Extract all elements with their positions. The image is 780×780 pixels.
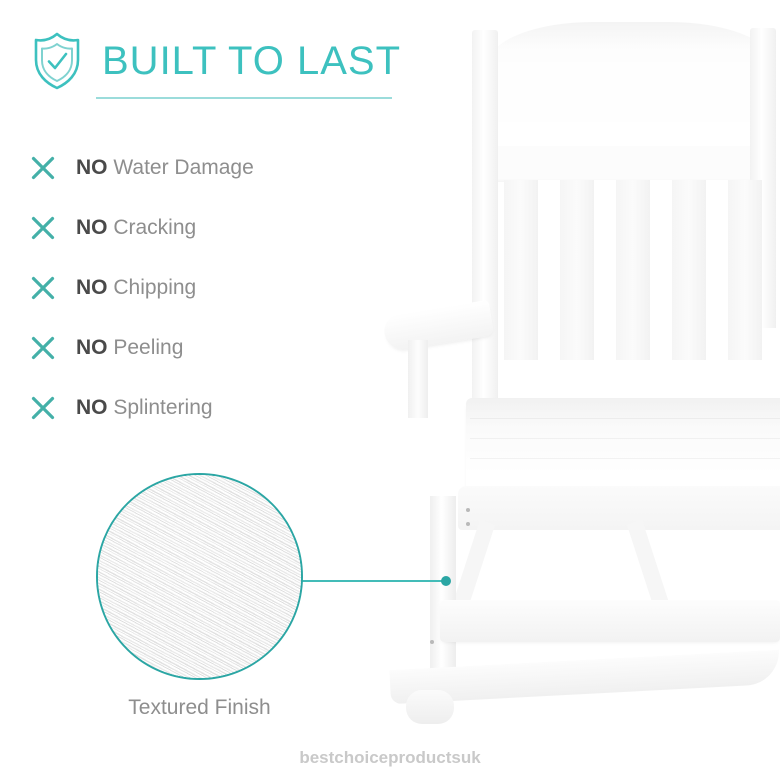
chair-back-rail bbox=[490, 146, 772, 182]
feature-name: Water Damage bbox=[113, 156, 253, 179]
shield-check-icon bbox=[30, 30, 84, 92]
chair-crest-gap bbox=[498, 122, 764, 148]
x-mark-icon bbox=[30, 215, 56, 241]
chair-screw bbox=[466, 508, 470, 512]
chair-screw bbox=[466, 522, 470, 526]
magnified-texture-circle-icon bbox=[96, 473, 303, 680]
chair-rocker-foot bbox=[406, 690, 454, 724]
chair-seat bbox=[466, 398, 780, 498]
chair-back-slat bbox=[672, 180, 706, 360]
rocking-chair-illustration bbox=[380, 0, 780, 780]
leader-line-dot-icon bbox=[441, 576, 451, 586]
feature-item-splintering: NO Splintering bbox=[30, 378, 360, 438]
marketing-infographic: BUILT TO LAST NO Water Damage NO Crackin… bbox=[0, 0, 780, 780]
page-title: BUILT TO LAST bbox=[102, 41, 401, 81]
feature-prefix: NO bbox=[76, 336, 108, 359]
chair-arm-post bbox=[408, 340, 428, 418]
feature-name: Splintering bbox=[113, 396, 212, 419]
chair-seat-slat-line bbox=[470, 458, 780, 459]
chair-screw bbox=[430, 640, 434, 644]
chair-seat-slat-line bbox=[470, 438, 780, 439]
chair-slat-gap bbox=[594, 180, 616, 360]
brand-watermark: bestchoiceproductsuk bbox=[0, 748, 780, 768]
feature-name: Cracking bbox=[113, 216, 196, 239]
feature-name: Chipping bbox=[113, 276, 196, 299]
feature-prefix: NO bbox=[76, 396, 108, 419]
chair-slat-gap bbox=[538, 180, 560, 360]
title-underline bbox=[96, 97, 392, 99]
feature-label: NO Water Damage bbox=[76, 156, 254, 180]
x-mark-icon bbox=[30, 395, 56, 421]
feature-item-peeling: NO Peeling bbox=[30, 318, 360, 378]
feature-item-cracking: NO Cracking bbox=[30, 198, 360, 258]
feature-prefix: NO bbox=[76, 276, 108, 299]
x-mark-icon bbox=[30, 155, 56, 181]
feature-label: NO Chipping bbox=[76, 276, 196, 300]
chair-seat-apron bbox=[458, 486, 780, 530]
chair-back-slat bbox=[728, 180, 762, 360]
feature-prefix: NO bbox=[76, 156, 108, 179]
chair-back-slat bbox=[616, 180, 650, 360]
chair-slat-gap bbox=[650, 180, 672, 360]
feature-prefix: NO bbox=[76, 216, 108, 239]
feature-item-chipping: NO Chipping bbox=[30, 258, 360, 318]
x-mark-icon bbox=[30, 335, 56, 361]
x-mark-icon bbox=[30, 275, 56, 301]
product-photo bbox=[380, 0, 780, 780]
texture-pattern bbox=[96, 473, 303, 680]
feature-name: Peeling bbox=[113, 336, 183, 359]
callout-leader-line bbox=[300, 580, 446, 582]
chair-crest-rail bbox=[490, 22, 772, 132]
chair-front-leg bbox=[430, 496, 456, 686]
chair-slat-gap bbox=[706, 180, 728, 360]
callout-caption: Textured Finish bbox=[96, 696, 303, 720]
feature-item-water-damage: NO Water Damage bbox=[30, 138, 360, 198]
chair-seat-slat-line bbox=[470, 418, 780, 419]
header: BUILT TO LAST bbox=[30, 30, 401, 92]
feature-label: NO Splintering bbox=[76, 396, 213, 420]
chair-stretcher-rail bbox=[440, 600, 780, 642]
feature-label: NO Cracking bbox=[76, 216, 196, 240]
chair-back-slat bbox=[504, 180, 538, 360]
chair-back-slat bbox=[560, 180, 594, 360]
feature-label: NO Peeling bbox=[76, 336, 183, 360]
feature-list: NO Water Damage NO Cracking NO Chipping bbox=[30, 138, 360, 438]
